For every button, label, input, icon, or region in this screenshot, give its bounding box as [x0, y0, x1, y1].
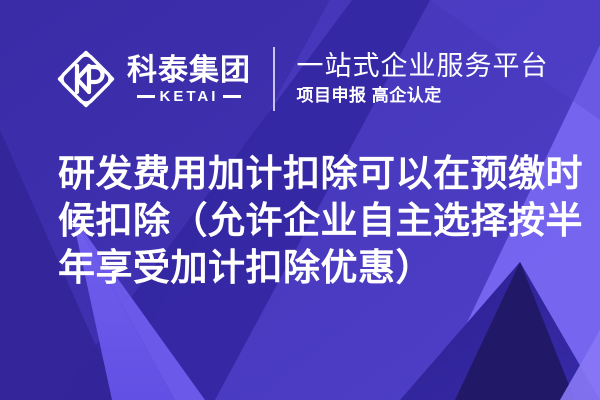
tagline-block: 一站式企业服务平台 项目申报 高企认定: [297, 50, 549, 108]
brand-name-cn: 科泰集团: [127, 54, 251, 88]
headline-line-2: 候扣除（允许企业自主选择按半: [58, 197, 550, 244]
tagline-main: 一站式企业服务平台: [297, 50, 549, 82]
header-divider: [273, 47, 275, 111]
brand-name-en-row: KETAI: [137, 89, 242, 105]
ketai-diamond-kp-monogram-icon: [55, 48, 117, 110]
headline-block: 研发费用加计扣除可以在预缴时 候扣除（允许企业自主选择按半 年享受加计扣除优惠）: [58, 150, 550, 291]
brand-lockup: 科泰集团 KETAI: [127, 54, 251, 105]
promo-banner: 科泰集团 KETAI 一站式企业服务平台 项目申报 高企认定 研发费用加计扣除可…: [0, 0, 600, 400]
brand-name-en: KETAI: [160, 89, 219, 105]
banner-content: 科泰集团 KETAI 一站式企业服务平台 项目申报 高企认定 研发费用加计扣除可…: [0, 0, 600, 400]
tagline-sub: 项目申报 高企认定: [297, 84, 549, 108]
dash-left-icon: [137, 95, 155, 98]
headline-line-1: 研发费用加计扣除可以在预缴时: [58, 150, 550, 197]
headline-line-3: 年享受加计扣除优惠）: [58, 244, 550, 291]
dash-right-icon: [223, 95, 241, 98]
banner-header: 科泰集团 KETAI 一站式企业服务平台 项目申报 高企认定: [55, 40, 549, 118]
